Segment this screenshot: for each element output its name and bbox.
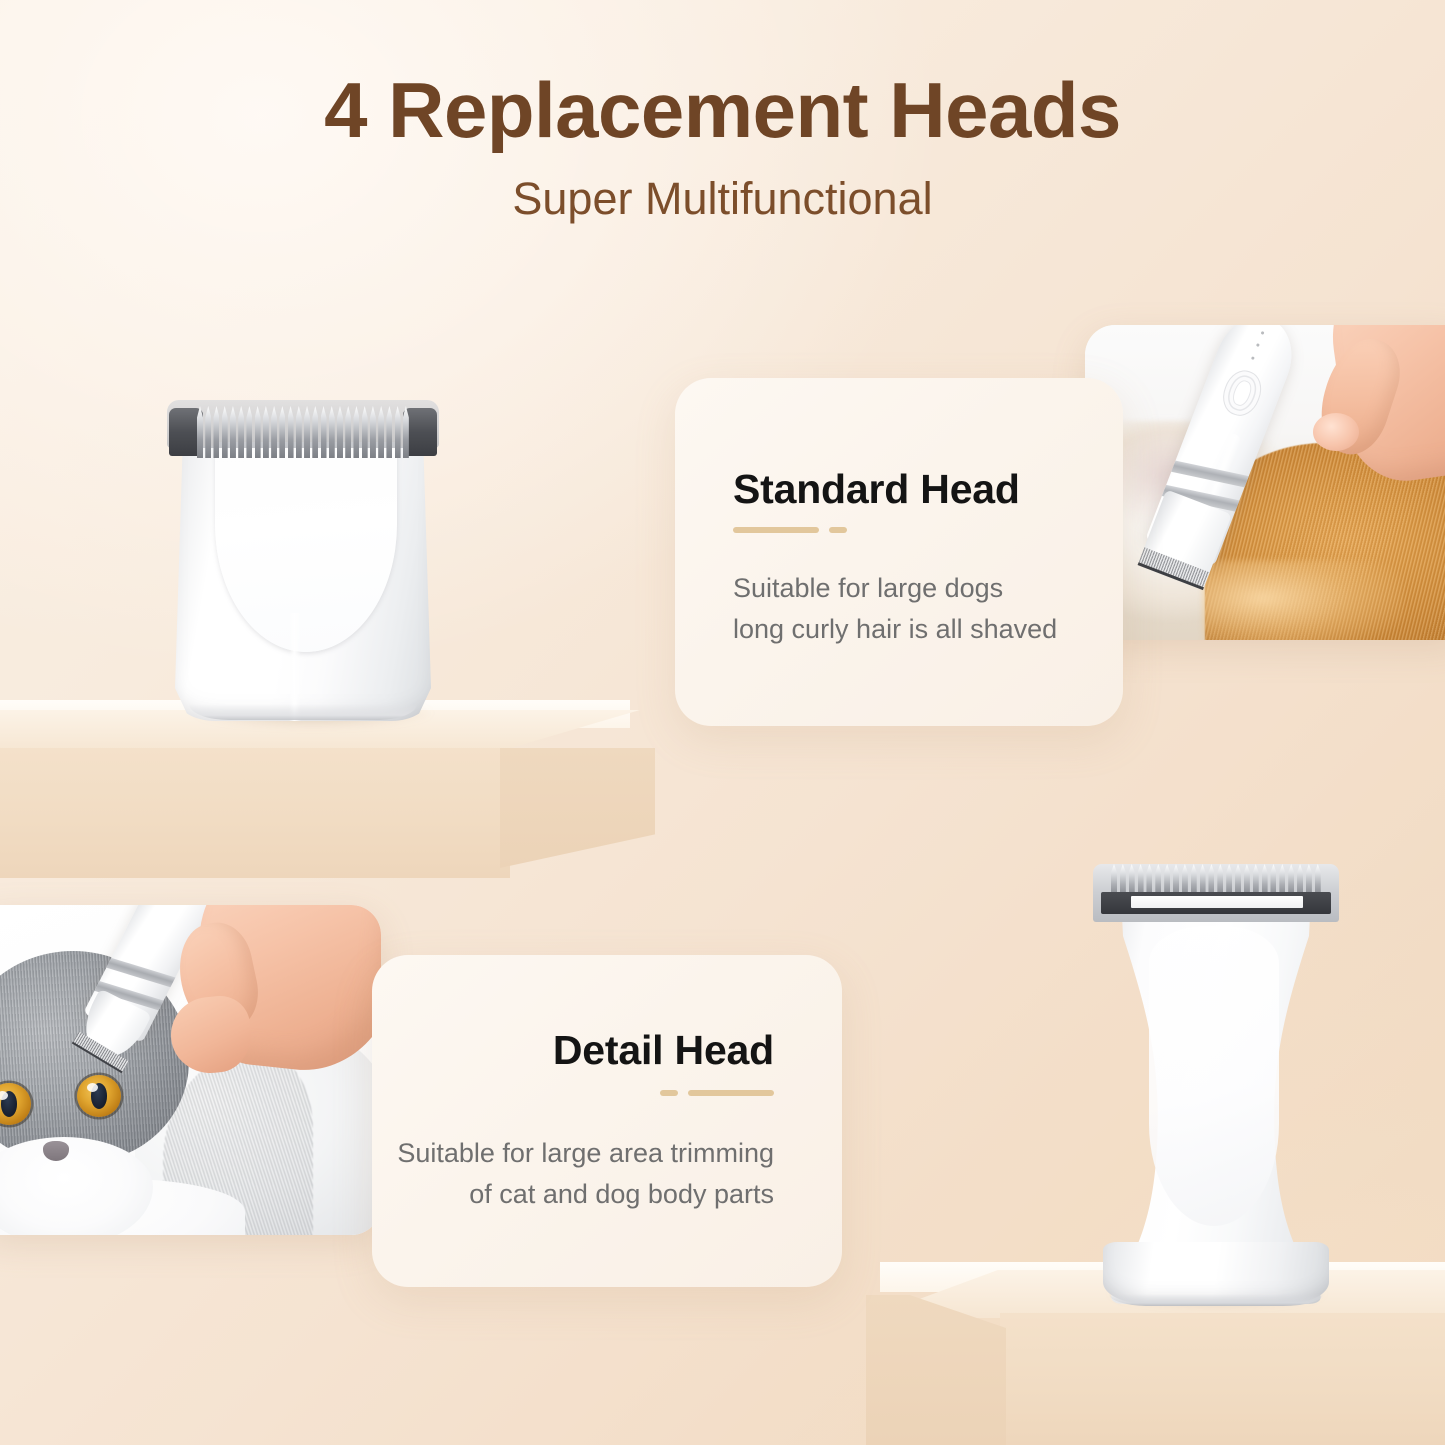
blade-tooth [370, 406, 376, 458]
card-divider [660, 1089, 774, 1096]
blade-tooth [1173, 864, 1179, 894]
blade-tooth [353, 406, 359, 458]
divider-dash-long [733, 527, 819, 533]
blade-tooth [1111, 864, 1117, 894]
blade-tooth [321, 406, 327, 458]
blade-tooth [238, 406, 244, 458]
blade-tooth [288, 406, 294, 458]
blade-tooth [395, 406, 401, 458]
blade-white-bar [1131, 896, 1303, 908]
clipper-led-dot [1256, 343, 1260, 347]
blade-tooth [1217, 864, 1223, 894]
blade-tooth [197, 406, 203, 458]
clipper-blade-assembly [163, 398, 443, 460]
blade-tooth [279, 406, 285, 458]
blade-tooth [1244, 864, 1250, 894]
blade-tooth [1146, 864, 1152, 894]
blade-tooth [263, 406, 269, 458]
blade-tooth [205, 406, 211, 458]
blade-tooth [271, 406, 277, 458]
dog-fur-highlight [1203, 560, 1403, 640]
blade-tooth [345, 406, 351, 458]
clipper-head-base-edge [189, 704, 417, 720]
blade-tooth [1138, 864, 1144, 894]
feature-card-standard-head: Standard Head Suitable for large dogs lo… [675, 378, 1123, 726]
card-divider [733, 526, 847, 533]
hand-fingertip [1313, 413, 1359, 451]
blade-tooth [329, 406, 335, 458]
blade-tooth [230, 406, 236, 458]
blade-tooth [1288, 864, 1294, 894]
pedestal-front-face [0, 748, 510, 878]
blade-tooth [403, 406, 409, 458]
blade-tooth [1155, 864, 1161, 894]
blade-tooth [1191, 864, 1197, 894]
blade-tooth [1235, 864, 1241, 894]
blade-tooth [1253, 864, 1259, 894]
blade-tooth [222, 406, 228, 458]
blade-tooth [1315, 864, 1321, 894]
divider-dash-short [660, 1090, 678, 1096]
photo-dog-grooming [1085, 325, 1445, 640]
blade-tooth [1279, 864, 1285, 894]
blade-tooth [246, 406, 252, 458]
blade-tooth [213, 406, 219, 458]
page-subtitle: Super Multifunctional [0, 174, 1445, 224]
card-description: Suitable for large dogs long curly hair … [733, 568, 1057, 650]
clipper-head-gloss [1149, 926, 1279, 1226]
card-description: Suitable for large area trimming of cat … [397, 1133, 774, 1215]
photo-cat-grooming [0, 905, 381, 1235]
blade-tooth [362, 406, 368, 458]
blade-tooth [1306, 864, 1312, 894]
blade-tooth [312, 406, 318, 458]
blade-tooth [337, 406, 343, 458]
blade-tooth [296, 406, 302, 458]
pedestal-front-face [1000, 1313, 1445, 1445]
divider-dash-short [829, 527, 847, 533]
product-feature-banner: 4 Replacement Heads Super Multifunctiona… [0, 0, 1445, 1445]
blade-tooth [1208, 864, 1214, 894]
product-image-detail-head [1073, 856, 1358, 1311]
clipper-led-dot [1251, 356, 1255, 360]
clipper-head-base-edge [1109, 1294, 1323, 1306]
blade-tooth [378, 406, 384, 458]
blade-tooth [1182, 864, 1188, 894]
blade-tooth [1270, 864, 1276, 894]
blade-tooth [304, 406, 310, 458]
blade-tooth [1200, 864, 1206, 894]
blade-tooth [1262, 864, 1268, 894]
page-title: 4 Replacement Heads [0, 70, 1445, 152]
feature-card-detail-head: Detail Head Suitable for large area trim… [372, 955, 842, 1287]
blade-tooth [1297, 864, 1303, 894]
header: 4 Replacement Heads Super Multifunctiona… [0, 0, 1445, 223]
blade-tooth [386, 406, 392, 458]
card-heading: Detail Head [553, 1027, 774, 1074]
product-image-standard-head [163, 398, 443, 728]
card-heading: Standard Head [733, 466, 1020, 513]
blade-tooth [1129, 864, 1135, 894]
blade-teeth [1111, 864, 1321, 894]
divider-dash-long [688, 1090, 774, 1096]
blade-teeth [197, 406, 409, 458]
pedestal-side-face [500, 748, 655, 868]
blade-tooth [255, 406, 261, 458]
blade-tooth [1226, 864, 1232, 894]
clipper-led-dot [1261, 331, 1265, 335]
blade-tooth [1164, 864, 1170, 894]
blade-tooth [1120, 864, 1126, 894]
